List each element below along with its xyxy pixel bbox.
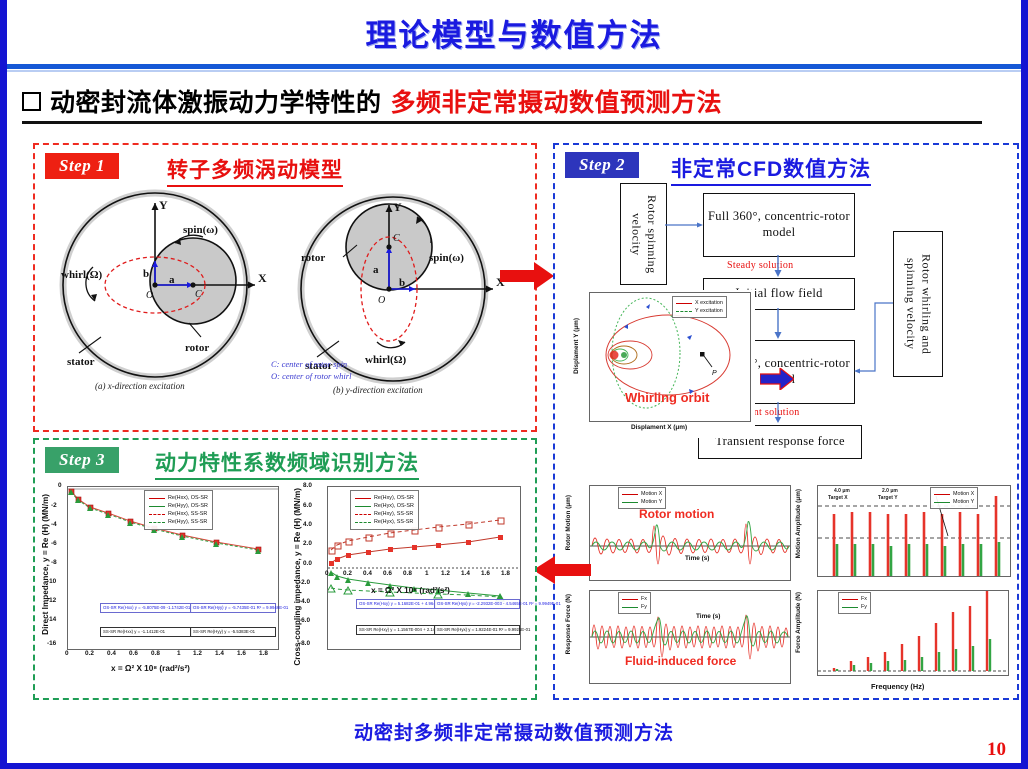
xtick: 0.2: [343, 570, 352, 577]
legend-label-fy: Fy: [861, 603, 867, 611]
legend-row: Motion X: [622, 490, 662, 498]
svg-text:O: O: [378, 295, 385, 306]
diagram-a-caption: (a) x-direction excitation: [95, 381, 185, 391]
legend-swatch-y: [676, 311, 692, 312]
force-amp-ylabel: Force Amplitude (N): [795, 592, 802, 653]
fluid-force-chart: Response Force (N) Fx Fy Time (s) Fluid-…: [565, 588, 793, 694]
force-amp-plot-area: Fx Fy: [817, 590, 1009, 676]
legend-label-motion-x: Motion X: [641, 490, 662, 498]
rotor-diagrams: X Y spin(ω) whirl(Ω) stator rotor a b C …: [43, 185, 525, 423]
left-border-bar: [0, 0, 7, 769]
legend-row: Fx: [622, 595, 647, 603]
ytick: 6.0: [303, 502, 312, 509]
legend-row: Fy: [622, 603, 647, 611]
rotor-diagram-a: X Y spin(ω) whirl(Ω) stator rotor a b C …: [43, 185, 279, 390]
legend-row: Fx: [842, 595, 867, 603]
legend-row: Re(Hxy), OS-SR: [355, 494, 414, 502]
svg-text:b: b: [143, 268, 149, 280]
force-amplitude-chart: Force Amplitude (N): [795, 588, 1015, 694]
svg-text:O: O: [146, 290, 153, 301]
cross-coupling-xlabel: x = Ω² X 10⁸ (rad²/s²): [371, 586, 450, 595]
ytick: -6.0: [299, 617, 310, 624]
svg-text:spin(ω): spin(ω): [429, 252, 464, 264]
annot-target-x: Target X: [828, 495, 848, 501]
xtick: 0.6: [383, 570, 392, 577]
annot-2um: 2.0 μm: [882, 488, 898, 494]
legend-swatch-hxx-os: [149, 498, 165, 499]
rotor-motion-ylabel: Rotor Motion (μm): [565, 495, 572, 550]
ytick: 0: [58, 482, 62, 489]
legend-swatch-hxy-os: [355, 498, 371, 499]
step2-title: 非定常CFD数值方法: [671, 153, 871, 186]
arrow-step2-to-step3-icon: [533, 556, 591, 584]
subtitle-underline: [22, 121, 982, 124]
rotor-motion-xlabel: Time (s): [685, 555, 709, 562]
legend-swatch-fy: [622, 607, 638, 608]
legend-swatch-x: [676, 303, 692, 304]
ytick: 8.0: [303, 482, 312, 489]
motion-amp-legend: Motion X Motion Y: [930, 487, 978, 509]
xtick: 1: [425, 570, 429, 577]
direct-impedance-chart: Direct Impedance, y = Re (H) (MN/m): [39, 480, 287, 692]
xtick: 1.4: [215, 650, 224, 657]
svg-text:C: C: [195, 289, 202, 300]
legend-label-hxx-os: Re(Hxx), OS-SR: [168, 494, 208, 502]
legend-row: Y excitation: [676, 307, 723, 315]
legend-row: Re(Hyx), OS-SR: [355, 502, 414, 510]
ytick: -12: [47, 597, 56, 604]
orbit-ylabel: Displament Y (μm): [573, 318, 580, 374]
legend-swatch-hyy-os: [149, 506, 165, 507]
xtick: 1.2: [441, 570, 450, 577]
orbit-xlabel: Displament X (μm): [631, 424, 687, 431]
xtick: 1.6: [481, 570, 490, 577]
legend-label-y: Y excitation: [695, 307, 723, 315]
xtick: 0.8: [403, 570, 412, 577]
note-center-whirl: O: center of rotor whirl: [271, 371, 351, 381]
cross-coupling-legend: Re(Hxy), OS-SR Re(Hyx), OS-SR Re(Hxy), S…: [350, 490, 419, 530]
legend-swatch-hyx-os: [355, 506, 371, 507]
fluid-force-ylabel: Response Force (N): [565, 594, 572, 654]
legend-label-motion-y: Motion Y: [953, 498, 974, 506]
xtick: 1.4: [461, 570, 470, 577]
title-divider: [7, 64, 1021, 69]
fitbox-os-hyx: OS-SR Re(Hyx) y = -2.2932E-003 - 4.5465E…: [434, 599, 520, 609]
cross-coupling-plot-area: Re(Hxy), OS-SR Re(Hyx), OS-SR Re(Hxy), S…: [327, 486, 521, 650]
ytick: 0.0: [303, 560, 312, 567]
xtick: 1.8: [501, 570, 510, 577]
footer-caption: 动密封多频非定常摄动数值预测方法: [0, 718, 1028, 745]
fitbox-os-hxx: OS-SR Re(Hxx) y = -5.8075E-09 -1.1742E-0…: [100, 603, 192, 613]
rotor-motion-legend: Motion X Motion Y: [618, 487, 666, 509]
whirling-orbit-overlay-label: Whirling orbit: [625, 390, 709, 405]
svg-text:rotor: rotor: [301, 252, 325, 264]
fitbox-ss-hyx: SS-SR Re(Hyx) y = 1.9224E-01 R² = 9.9921…: [434, 625, 520, 635]
rotor-motion-overlay-label: Rotor motion: [639, 507, 714, 521]
legend-swatch-fx: [842, 599, 858, 600]
ytick: -14: [47, 616, 56, 623]
step2-panel: Step 2 非定常CFD数值方法 Rotor spinning velocit…: [553, 143, 1019, 700]
subtitle-red: 多频非定常摄动数值预测方法: [391, 83, 723, 119]
svg-text:spin(ω): spin(ω): [183, 224, 218, 236]
legend-row: Fy: [842, 603, 867, 611]
fluid-force-plot-area: Fx Fy Time (s): [589, 590, 791, 684]
svg-text:rotor: rotor: [185, 342, 209, 354]
fitbox-os-hxy: OS-SR Re(Hxy) y = 5.1682E-01 + 4.9647E-0…: [356, 599, 436, 609]
legend-row: Motion X: [934, 490, 974, 498]
svg-text:whirl(Ω): whirl(Ω): [365, 354, 407, 366]
legend-row: Re(Hxy), SS-SR: [355, 510, 414, 518]
title-divider-light: [7, 70, 1021, 72]
fluid-force-overlay-label: Fluid-induced force: [625, 654, 736, 668]
svg-text:b: b: [399, 277, 405, 289]
legend-label-fx: Fx: [641, 595, 647, 603]
legend-label-motion-y: Motion Y: [641, 498, 662, 506]
ytick: -4: [51, 521, 57, 528]
svg-text:C: C: [393, 233, 400, 244]
step3-title: 动力特性系数频域识别方法: [155, 447, 419, 480]
cross-coupling-chart: Cross-coupling impedance, y = Re (H) (MN…: [291, 480, 529, 692]
xtick: 0: [65, 650, 69, 657]
legend-row: Re(Hyy), OS-SR: [149, 502, 208, 510]
legend-row: X excitation: [676, 299, 723, 307]
fitbox-ss-hyy: SS-SR Re(Hyy) y = -5.5383E-01: [190, 627, 276, 637]
svg-text:stator: stator: [67, 356, 95, 368]
legend-row: Re(Hyx), SS-SR: [355, 518, 414, 526]
motion-amplitude-chart: Motion Amplitude (μm): [795, 483, 1015, 591]
svg-text:P: P: [712, 370, 717, 377]
ytick: -16: [47, 640, 56, 647]
legend-label-hyy-ss: Re(Hyy), SS-SR: [168, 518, 207, 526]
xtick: 0: [325, 570, 329, 577]
step3-panel: Step 3 动力特性系数频域识别方法 Direct Impedance, y …: [33, 438, 537, 700]
svg-text:a: a: [169, 274, 175, 286]
ytick: 2.0: [303, 540, 312, 547]
legend-row: Re(Hyy), SS-SR: [149, 518, 208, 526]
legend-row: Re(Hxx), SS-SR: [149, 510, 208, 518]
diagram-b-caption: (b) y-direction excitation: [333, 385, 423, 395]
xtick: 0.4: [107, 650, 116, 657]
direct-impedance-legend: Re(Hxx), OS-SR Re(Hyy), OS-SR Re(Hxx), S…: [144, 490, 213, 530]
legend-label-hyy-os: Re(Hyy), OS-SR: [168, 502, 208, 510]
ytick: -2.0: [299, 579, 310, 586]
fluid-force-xlabel: Time (s): [696, 613, 720, 620]
direct-impedance-ylabel: Direct Impedance, y = Re (H) (MN/m): [41, 494, 50, 635]
xtick: 0.2: [85, 650, 94, 657]
step3-badge: Step 3: [45, 447, 119, 473]
step1-title: 转子多频涡动模型: [167, 154, 343, 187]
legend-row: Motion Y: [934, 498, 974, 506]
svg-text:a: a: [373, 264, 379, 276]
legend-swatch-hxx-ss: [149, 514, 165, 515]
force-amp-xlabel: Frequency (Hz): [871, 682, 924, 691]
legend-row: Re(Hxx), OS-SR: [149, 494, 208, 502]
rotor-motion-plot-area: Motion X Motion Y: [589, 485, 791, 581]
legend-swatch-motion-x: [934, 494, 950, 495]
svg-text:X: X: [258, 271, 267, 285]
fitbox-ss-hxy: SS-SR Re(Hxy) y = 1.1567E-004 + 2.1421E-…: [356, 625, 436, 635]
square-bullet-icon: [22, 92, 41, 111]
bottom-border-bar: [0, 763, 1028, 769]
ytick: -4.0: [299, 598, 310, 605]
svg-text:Y: Y: [159, 198, 168, 212]
ytick: -6: [51, 540, 57, 547]
arrow-step1-to-step2-icon: [500, 262, 554, 290]
annot-4um: 4.0 μm: [834, 488, 850, 494]
legend-label-hxy-os: Re(Hxy), OS-SR: [374, 494, 414, 502]
step1-badge: Step 1: [45, 153, 119, 179]
annot-target-y: Target Y: [878, 495, 898, 501]
fc-input-rotor-spinning-velocity: Rotor spinning velocity: [620, 183, 667, 285]
svg-text:Y: Y: [393, 200, 402, 214]
xtick: 0.8: [151, 650, 160, 657]
legend-swatch-hyy-ss: [149, 522, 165, 523]
fitbox-ss-hxx: SS-SR Re(Hxx) y = -1.1412E-01: [100, 627, 192, 637]
note-center-spin: C: center of rotor spin: [271, 359, 347, 369]
legend-swatch-motion-y: [622, 502, 638, 503]
legend-label-hxy-ss: Re(Hxy), SS-SR: [374, 510, 413, 518]
legend-label-hyx-ss: Re(Hyx), SS-SR: [374, 518, 413, 526]
legend-label-fx: Fx: [861, 595, 867, 603]
fc-box-full360-concentric-1: Full 360°, concentric-rotor model: [703, 193, 855, 257]
ytick: -10: [47, 578, 56, 585]
legend-label-hxx-ss: Re(Hxx), SS-SR: [168, 510, 207, 518]
ytick: 4.0: [303, 521, 312, 528]
fluid-force-legend: Fx Fy: [618, 592, 651, 614]
legend-swatch-hyx-ss: [355, 522, 371, 523]
xtick: 0.6: [129, 650, 138, 657]
subtitle-black: 动密封流体激振动力学特性的: [50, 83, 382, 119]
orbit-legend: X excitation Y excitation: [672, 296, 727, 318]
legend-label-motion-x: Motion X: [953, 490, 974, 498]
cross-coupling-ylabel: Cross-coupling impedance, y = Re (H) (MN…: [293, 488, 302, 666]
legend-swatch-fx: [622, 599, 638, 600]
legend-label-fy: Fy: [641, 603, 647, 611]
fc-input-rotor-whirling-velocity: Rotor whirling and spinning velocity: [893, 231, 943, 377]
right-border-bar: [1021, 0, 1028, 769]
legend-swatch-hxy-ss: [355, 514, 371, 515]
whirling-orbit-chart: Displament Y (μm) P: [573, 290, 755, 438]
arrow-orbit-to-model-icon: [760, 368, 794, 390]
subtitle-row: 动密封流体激振动力学特性的 多频非定常摄动数值预测方法: [22, 82, 1002, 120]
legend-swatch-motion-x: [622, 494, 638, 495]
rotor-motion-chart: Rotor Motion (μm) Motion X Motion Y Roto…: [565, 483, 793, 591]
svg-text:whirl(Ω): whirl(Ω): [61, 269, 103, 281]
slide-root: 理论模型与数值方法 动密封流体激振动力学特性的 多频非定常摄动数值预测方法 St…: [0, 0, 1028, 769]
step1-panel: Step 1 转子多频涡动模型: [33, 143, 537, 432]
page-number: 10: [987, 739, 1006, 761]
force-amp-legend: Fx Fy: [838, 592, 871, 614]
motion-amp-plot-area: Motion X Motion Y 4.0 μm Target X 2.0 μm…: [817, 485, 1011, 577]
ytick: -2: [51, 502, 57, 509]
ytick: -8.0: [299, 640, 310, 647]
ytick: -8: [51, 559, 57, 566]
legend-label-x: X excitation: [695, 299, 723, 307]
xtick: 1.8: [259, 650, 268, 657]
fitbox-os-hyy: OS-SR Re(Hyy) y = -5.7435E-01 R² = 9.994…: [190, 603, 276, 613]
xtick: 1: [177, 650, 181, 657]
step2-badge: Step 2: [565, 152, 639, 178]
fc-label-steady-solution: Steady solution: [727, 260, 793, 271]
direct-impedance-plot-area: Re(Hxx), OS-SR Re(Hyy), OS-SR Re(Hxx), S…: [67, 486, 279, 650]
legend-label-hyx-os: Re(Hyx), OS-SR: [374, 502, 414, 510]
xtick: 0.4: [363, 570, 372, 577]
xtick: 1.2: [193, 650, 202, 657]
legend-swatch-fy: [842, 607, 858, 608]
legend-row: Motion Y: [622, 498, 662, 506]
xtick: 1.6: [237, 650, 246, 657]
motion-amp-ylabel: Motion Amplitude (μm): [795, 489, 802, 558]
direct-impedance-xlabel: x = Ω² X 10⁸ (rad²/s²): [111, 664, 190, 673]
legend-swatch-motion-y: [934, 502, 950, 503]
slide-title: 理论模型与数值方法: [0, 10, 1028, 55]
